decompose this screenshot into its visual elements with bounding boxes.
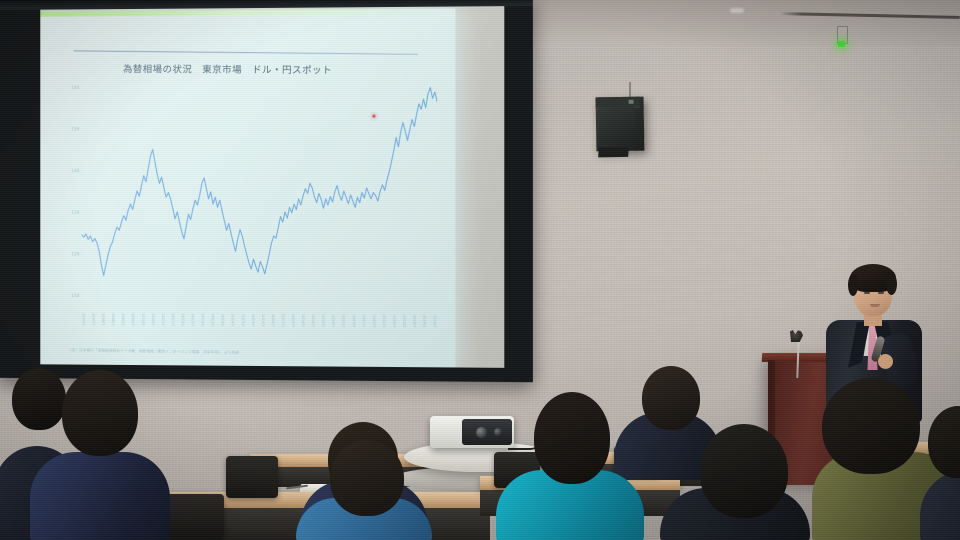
x-tick-label: 2007/1 — [82, 313, 86, 326]
audience-head — [822, 378, 920, 474]
y-tick-label: 130 — [64, 210, 80, 215]
projector-front-panel — [462, 419, 512, 445]
x-tick-label: 2015/1 — [241, 314, 245, 327]
projected-slide: 為替相場の状況 東京市場 ドル・円スポット 160 150 140 130 12… — [40, 9, 455, 368]
x-tick-label: 2010/1 — [141, 313, 145, 326]
ceiling-led-indicator — [838, 41, 845, 47]
presenter-eye-right — [878, 292, 884, 294]
audience-head — [62, 370, 138, 456]
y-tick-label: 140 — [64, 168, 80, 173]
chair — [226, 456, 278, 498]
x-tick-label: 2024/1 — [423, 315, 427, 328]
x-tick-label: 2016/1 — [261, 314, 265, 327]
exchange-rate-line — [82, 81, 438, 315]
x-tick-label: 2014/7 — [231, 314, 235, 327]
presentation-room-photo: 為替相場の状況 東京市場 ドル・円スポット 160 150 140 130 12… — [0, 0, 960, 540]
wall-speaker — [596, 97, 645, 152]
x-tick-label: 2016/7 — [271, 314, 275, 327]
x-tick-label: 2020/1 — [341, 314, 345, 327]
projection-screen: 為替相場の状況 東京市場 ドル・円スポット 160 150 140 130 12… — [0, 0, 533, 382]
presenter-mouth — [870, 304, 880, 307]
x-tick-label: 2015/7 — [251, 314, 255, 327]
chart-line-series — [82, 81, 438, 315]
chart-x-axis-labels: 2007/12007/72008/12008/72009/12009/72010… — [82, 313, 438, 345]
audience-head — [330, 440, 404, 516]
presenter-hand — [878, 354, 893, 369]
x-tick-label: 2021/7 — [372, 315, 376, 328]
speaker-grille — [599, 107, 636, 146]
presenter-eye-left — [864, 292, 870, 294]
x-tick-label: 2008/1 — [101, 313, 105, 326]
x-tick-label: 2017/7 — [291, 314, 295, 327]
slide-content: 為替相場の状況 東京市場 ドル・円スポット 160 150 140 130 12… — [40, 9, 455, 368]
x-tick-label: 2021/1 — [362, 315, 366, 328]
speaker-led — [629, 100, 634, 104]
y-tick-label: 110 — [64, 293, 80, 298]
x-tick-label: 2009/7 — [131, 313, 135, 326]
projector-lens — [476, 427, 487, 438]
audience-shoulders — [30, 452, 170, 540]
x-tick-label: 2020/7 — [352, 314, 356, 327]
x-tick-label: 2018/7 — [311, 314, 315, 327]
x-tick-label: 2014/1 — [221, 314, 225, 327]
chart-plot-area: 160 150 140 130 120 110 — [58, 81, 437, 315]
x-tick-label: 2013/1 — [201, 314, 205, 327]
x-tick-label: 2011/7 — [171, 314, 175, 327]
x-tick-label: 2009/1 — [121, 313, 125, 326]
chart-y-axis: 160 150 140 130 120 110 — [58, 83, 80, 313]
x-tick-label: 2022/1 — [382, 315, 386, 328]
x-tick-label: 2013/7 — [211, 314, 215, 327]
audience-head — [12, 368, 66, 430]
ceiling-smudge — [730, 8, 744, 13]
x-tick-label: 2019/1 — [321, 314, 325, 327]
chart-red-marker — [372, 115, 375, 118]
screen-surface: 為替相場の状況 東京市場 ドル・円スポット 160 150 140 130 12… — [40, 6, 504, 368]
audience-head — [534, 392, 610, 484]
presenter-hair-side-left — [848, 274, 858, 296]
slide-title: 為替相場の状況 東京市場 ドル・円スポット — [123, 61, 423, 77]
speaker-base — [598, 147, 629, 158]
x-tick-label: 2010/7 — [151, 313, 155, 326]
x-tick-label: 2012/7 — [191, 314, 195, 327]
x-tick-label: 2012/1 — [181, 314, 185, 327]
x-tick-label: 2011/1 — [161, 313, 165, 326]
presenter-hair-side-right — [886, 273, 897, 295]
y-tick-label: 150 — [64, 126, 80, 131]
x-tick-label: 2019/7 — [331, 314, 335, 327]
y-tick-label: 160 — [64, 85, 80, 90]
x-tick-label: 2022/7 — [392, 315, 396, 328]
x-tick-label: 2023/1 — [402, 315, 406, 328]
x-tick-label: 2023/7 — [412, 315, 416, 328]
slide-footnote: （注）日本銀行「金融経済統計データ集 為替相場（東京インターバンク相場 月中平均… — [68, 347, 407, 358]
x-tick-label: 2008/7 — [111, 313, 115, 326]
audience-head — [642, 366, 700, 430]
projector — [430, 416, 514, 448]
x-tick-label: 2018/1 — [301, 314, 305, 327]
y-tick-label: 120 — [64, 251, 80, 256]
projector-sensor — [494, 428, 502, 436]
slide-divider-rule — [74, 50, 418, 54]
x-tick-label: 2007/7 — [91, 313, 95, 326]
audience-head — [700, 424, 788, 518]
x-tick-label: 2017/1 — [281, 314, 285, 327]
x-tick-label: 2024/7 — [433, 315, 437, 328]
